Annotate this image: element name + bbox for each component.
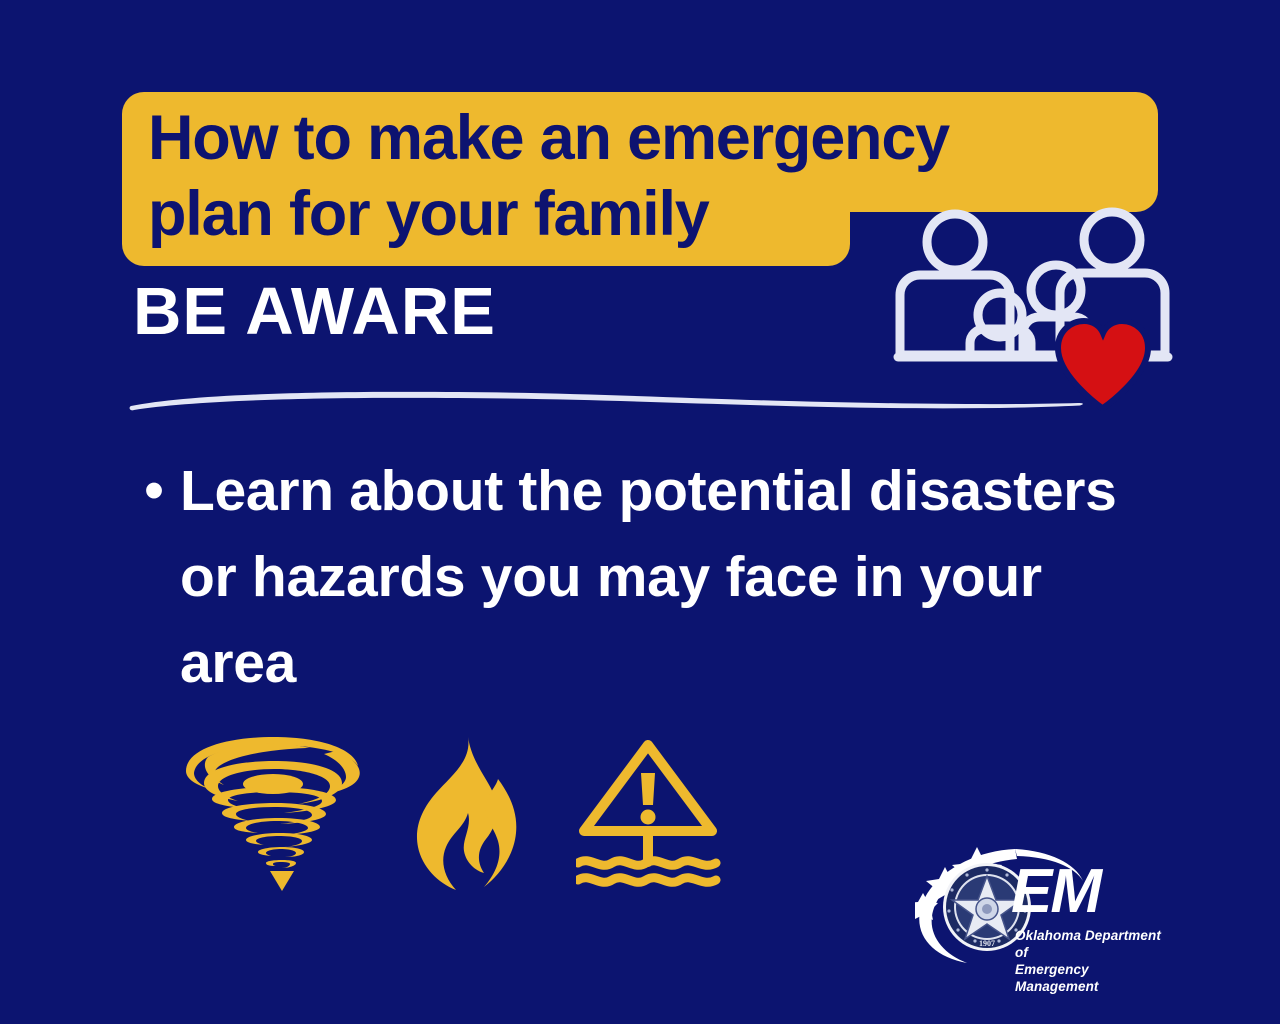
bullet-marker: •: [128, 448, 180, 534]
logo-subtitle: Oklahoma Department of Emergency Managem…: [1015, 927, 1165, 995]
svg-text:1907: 1907: [979, 939, 995, 948]
fire-icon: [406, 735, 531, 895]
section-heading: BE AWARE: [133, 278, 496, 345]
oem-logo: 1907 EM Oklahoma Department of Emergency…: [915, 845, 1165, 970]
tornado-icon: [178, 735, 368, 895]
list-item-label: Learn about the potential disasters or h…: [180, 448, 1168, 706]
logo-wordmark: EM: [1011, 861, 1100, 923]
flood-warning-icon: [576, 735, 721, 895]
family-with-heart-icon: [890, 205, 1180, 420]
poster-canvas: How to make an emergency plan for your f…: [0, 0, 1280, 1024]
hazard-icon-row: [178, 735, 718, 895]
list-item: • Learn about the potential disasters or…: [128, 448, 1168, 706]
